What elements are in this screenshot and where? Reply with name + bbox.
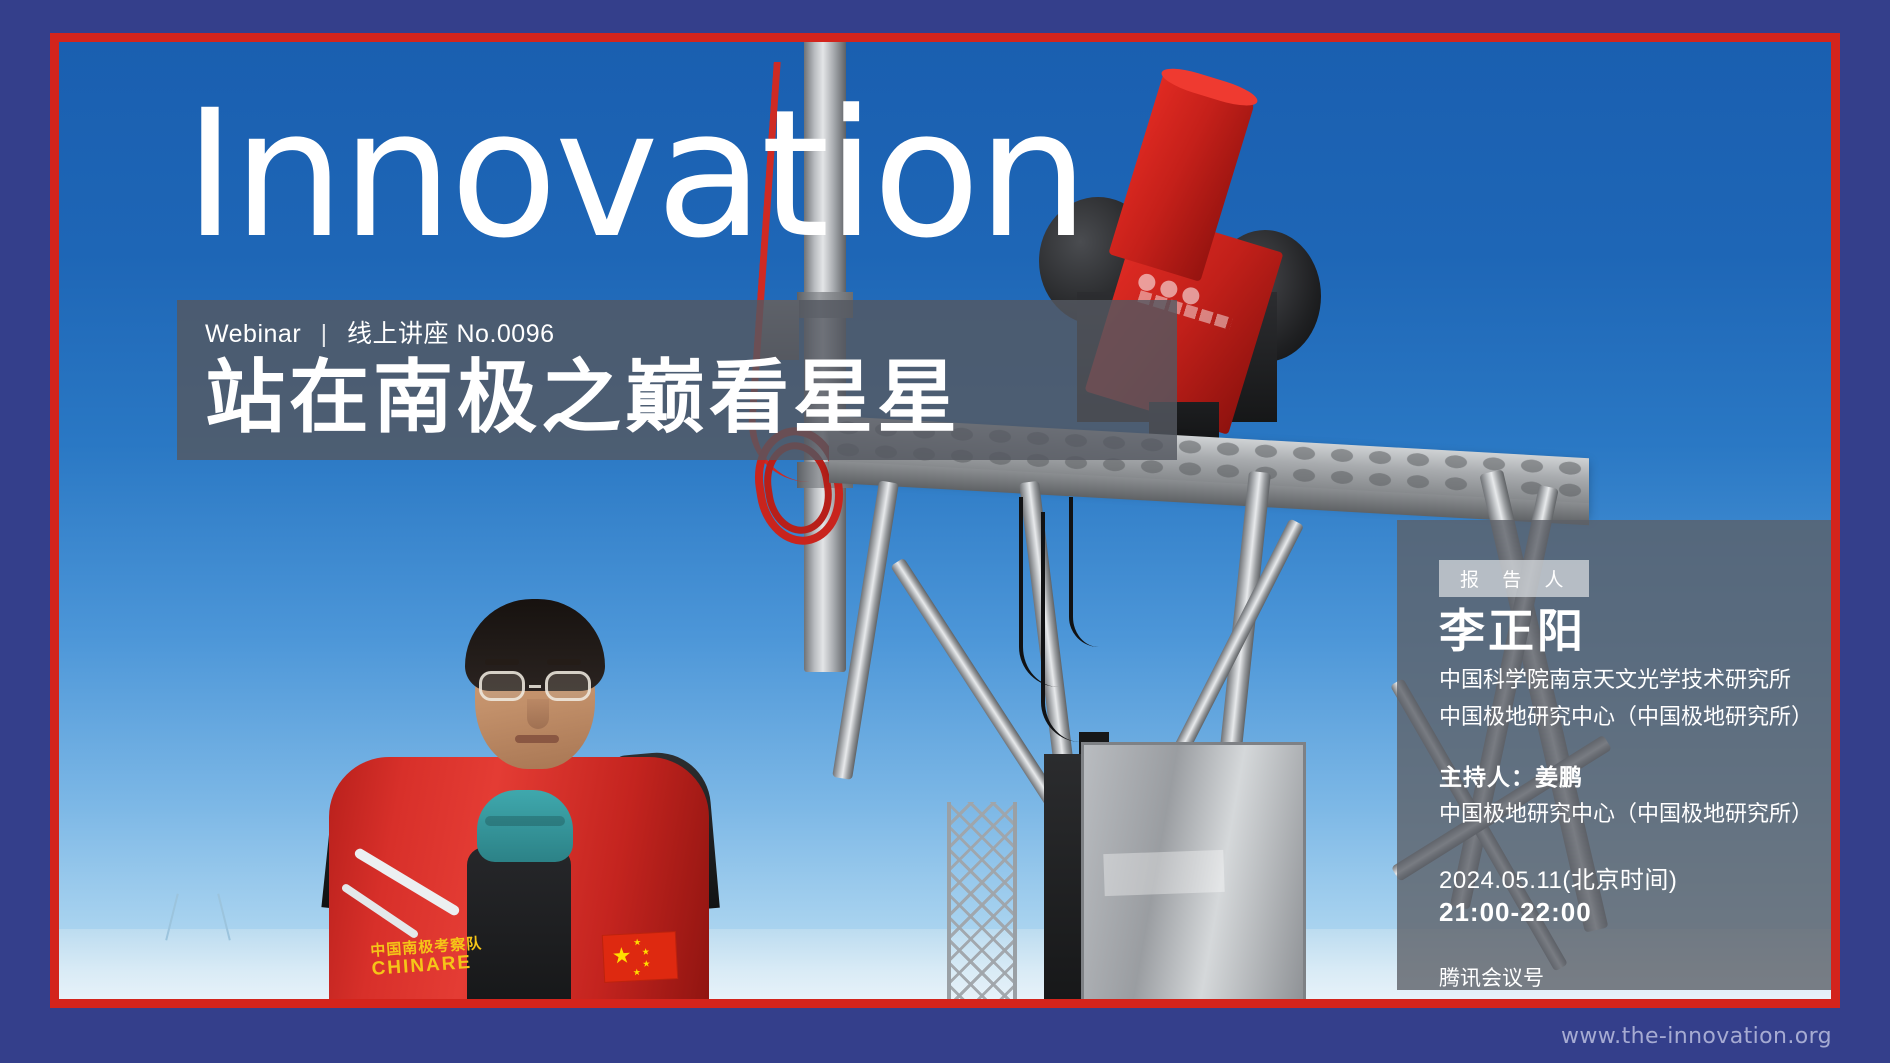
flag-star: ★ bbox=[633, 968, 642, 977]
page-title: 站在南极之巅看星星 bbox=[205, 356, 1149, 440]
glasses-bridge bbox=[529, 685, 541, 688]
nose bbox=[527, 699, 549, 729]
lens-left bbox=[479, 671, 525, 701]
host-name: 主持人：姜鹏 bbox=[1439, 758, 1840, 792]
meeting-block: 腾讯会议号 363-656-318 bbox=[1439, 962, 1840, 1008]
innovation-wordmark: Innovation bbox=[184, 94, 1086, 256]
mouth bbox=[515, 735, 559, 743]
series-label: Webinar bbox=[205, 320, 301, 348]
speaker-affiliation-1: 中国科学院南京天文光学技术研究所 bbox=[1439, 664, 1840, 695]
neck-gaiter bbox=[477, 790, 573, 862]
series-number-cn: 线上讲座 No.0096 bbox=[347, 320, 554, 348]
event-time: 21:00-22:00 bbox=[1439, 897, 1840, 928]
title-block: Webinar | 线上讲座 No.0096 站在南极之巅看星星 bbox=[177, 300, 1177, 460]
lens-right bbox=[545, 671, 591, 701]
eyebrow-left bbox=[485, 659, 519, 665]
host-block: 主持人：姜鹏 中国极地研究中心（中国极地研究所） bbox=[1439, 758, 1840, 828]
separator: | bbox=[321, 320, 328, 348]
speaker-portrait: 中国南极考察队 CHINARE ★ ★ ★ ★ ★ 李正阳 bbox=[329, 547, 709, 999]
equipment-crate-label bbox=[1103, 850, 1224, 896]
flag-star: ★ bbox=[633, 938, 642, 947]
lattice-tower bbox=[947, 802, 1017, 999]
flag-star: ★ bbox=[642, 959, 651, 968]
meeting-label: 腾讯会议号 bbox=[1439, 962, 1840, 992]
eyebrow-right bbox=[547, 659, 581, 665]
flag-star: ★ bbox=[642, 947, 651, 956]
schedule-block: 2024.05.11(北京时间) 21:00-22:00 bbox=[1439, 860, 1840, 928]
webinar-line: Webinar | 线上讲座 No.0096 bbox=[205, 314, 1149, 350]
speaker-affiliation-2: 中国极地研究中心（中国极地研究所） bbox=[1439, 701, 1840, 732]
speaker-name: 李正阳 bbox=[1439, 605, 1840, 658]
parka-chest-panel bbox=[467, 847, 571, 999]
china-flag-icon: ★ ★ ★ ★ ★ bbox=[602, 931, 678, 983]
event-date: 2024.05.11(北京时间) bbox=[1439, 860, 1840, 895]
role-badge: 报 告 人 bbox=[1439, 560, 1589, 597]
distant-mast bbox=[119, 889, 279, 941]
hanging-cable bbox=[1069, 497, 1099, 647]
host-affiliation: 中国极地研究中心（中国极地研究所） bbox=[1439, 796, 1840, 828]
speaker-info-panel: 报 告 人 李正阳 中国科学院南京天文光学技术研究所 中国极地研究中心（中国极地… bbox=[1397, 520, 1840, 990]
poster-frame: 中国南极考察队 CHINARE ★ ★ ★ ★ ★ 李正阳 Innovation… bbox=[50, 33, 1840, 1008]
eyeglasses-icon bbox=[479, 671, 591, 701]
meeting-id: 363-656-318 bbox=[1439, 996, 1840, 1008]
footer-website-url[interactable]: www.the-innovation.org bbox=[1561, 1024, 1832, 1049]
flag-star: ★ bbox=[611, 944, 632, 967]
